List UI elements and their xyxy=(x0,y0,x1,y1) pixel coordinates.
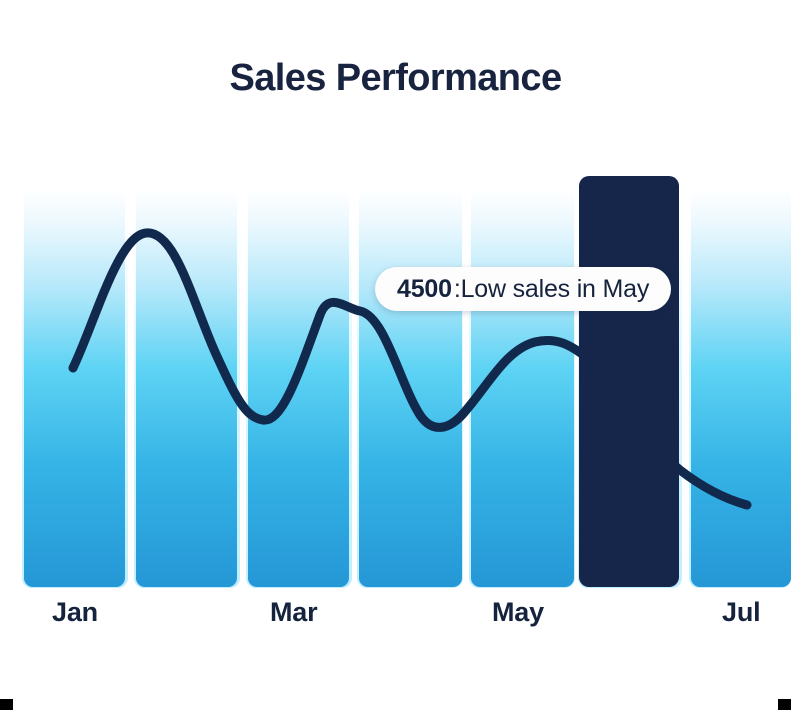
bar-jun-highlight[interactable] xyxy=(579,176,679,587)
bar-jan[interactable] xyxy=(24,189,125,587)
highlight-bar-group xyxy=(579,176,679,587)
x-axis: Jan Mar May Jul xyxy=(0,597,791,643)
annotation-separator: : xyxy=(454,275,461,304)
chart-plot-area xyxy=(0,0,791,660)
x-tick-label-may: May xyxy=(492,597,544,628)
square-mark-icon-left xyxy=(0,699,13,710)
x-tick-label-mar: Mar xyxy=(270,597,317,628)
bar-jul[interactable] xyxy=(691,189,791,587)
annotation-tooltip[interactable]: 4500: Low sales in May xyxy=(375,267,671,311)
bar-feb[interactable] xyxy=(136,189,237,587)
chart-page: Sales Performance xyxy=(0,0,791,710)
bar-mar[interactable] xyxy=(248,189,349,587)
chart-svg xyxy=(0,0,791,660)
annotation-value: 4500 xyxy=(397,275,452,304)
x-tick-label-jul: Jul xyxy=(722,597,760,628)
x-tick-label-jan: Jan xyxy=(52,597,98,628)
annotation-text: Low sales in May xyxy=(461,275,650,304)
square-mark-icon-right xyxy=(778,699,791,710)
